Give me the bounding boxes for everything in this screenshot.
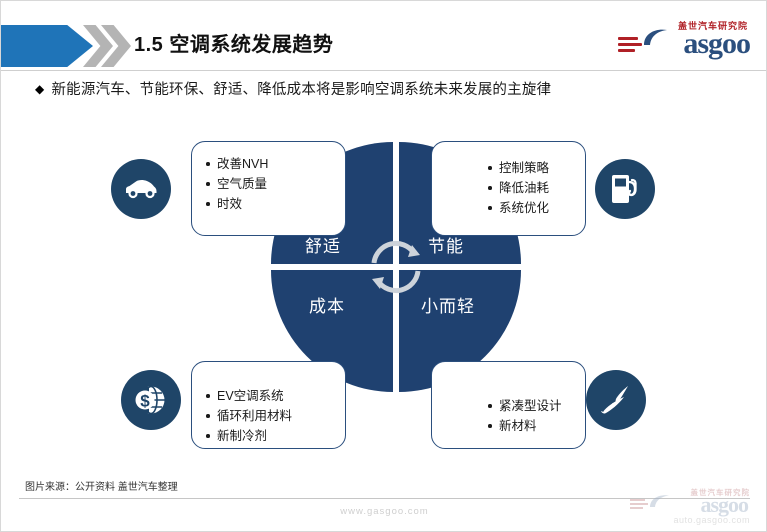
note-box-comfort: 改善NVH 空气质量 时效 bbox=[191, 141, 346, 236]
quadrant-label-cost: 成本 bbox=[309, 292, 345, 317]
fuel-pump-icon bbox=[609, 172, 641, 206]
note-box-cost: EV空调系统 循环利用材料 新制冷剂 bbox=[191, 361, 346, 449]
list-item: 系统优化 bbox=[488, 198, 571, 218]
list-item: 紧凑型设计 bbox=[488, 396, 571, 416]
globe-money-icon: $ bbox=[134, 383, 168, 417]
car-icon bbox=[122, 176, 160, 202]
note-list-cost: EV空调系统 循环利用材料 新制冷剂 bbox=[206, 374, 331, 446]
note-list-light: 紧凑型设计 新材料 bbox=[488, 374, 571, 436]
list-item: 空气质量 bbox=[206, 174, 331, 194]
feather-icon-badge bbox=[586, 370, 646, 430]
diagram-stage: 舒适 节能 成本 小而轻 改善NVH 空气质量 时效 控制策略 降低油耗 bbox=[1, 107, 767, 472]
header-arrow-shape bbox=[1, 25, 93, 67]
subtitle-line: ◆新能源汽车、节能环保、舒适、降低成本将是影响空调系统未来发展的主旋律 bbox=[35, 78, 551, 99]
cycle-arrows-icon bbox=[362, 233, 430, 301]
globe-money-icon-badge: $ bbox=[121, 370, 181, 430]
list-item: EV空调系统 bbox=[206, 386, 331, 406]
source-note: 图片来源：公开资料 盖世汽车整理 bbox=[25, 478, 178, 493]
list-item: 时效 bbox=[206, 194, 331, 214]
car-icon-badge bbox=[111, 159, 171, 219]
gasgoo-watermark: 盖世汽车研究院 asgoo auto.gasgoo.com bbox=[630, 487, 752, 527]
list-item: 降低油耗 bbox=[488, 178, 571, 198]
svg-text:$: $ bbox=[140, 392, 150, 411]
note-box-energy: 控制策略 降低油耗 系统优化 bbox=[431, 141, 586, 236]
note-list-energy: 控制策略 降低油耗 系统优化 bbox=[488, 154, 571, 218]
note-box-light: 紧凑型设计 新材料 bbox=[431, 361, 586, 449]
list-item: 新制冷剂 bbox=[206, 426, 331, 446]
fuel-pump-icon-badge bbox=[595, 159, 655, 219]
list-item: 改善NVH bbox=[206, 154, 331, 174]
note-list-comfort: 改善NVH 空气质量 时效 bbox=[206, 154, 331, 214]
feather-icon bbox=[598, 383, 634, 417]
watermark-wordmark: asgoo bbox=[700, 493, 748, 517]
list-item: 循环利用材料 bbox=[206, 406, 331, 426]
list-item: 新材料 bbox=[488, 416, 571, 436]
subtitle-bullet-icon: ◆ bbox=[35, 82, 44, 96]
page-title: 1.5 空调系统发展趋势 bbox=[134, 28, 333, 57]
slide-canvas: 1.5 空调系统发展趋势 盖世汽车研究院 asgoo ◆新能源汽车、节能环保、舒… bbox=[0, 0, 767, 532]
subtitle-text: 新能源汽车、节能环保、舒适、降低成本将是影响空调系统未来发展的主旋律 bbox=[51, 82, 551, 98]
logo-wordmark: asgoo bbox=[683, 28, 750, 60]
slide-header: 1.5 空调系统发展趋势 盖世汽车研究院 asgoo bbox=[1, 1, 767, 71]
list-item: 控制策略 bbox=[488, 158, 571, 178]
gasgoo-logo: 盖世汽车研究院 asgoo bbox=[618, 19, 750, 63]
watermark-domain: auto.gasgoo.com bbox=[673, 515, 750, 525]
header-divider bbox=[1, 70, 767, 71]
